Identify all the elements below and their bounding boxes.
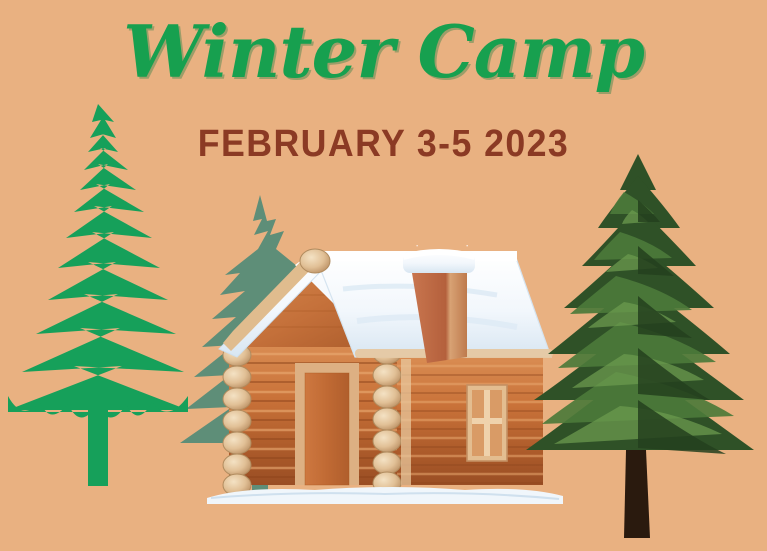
page-title: Winter Camp — [0, 14, 767, 90]
winter-camp-poster: Winter Camp FEBRUARY 3-5 2023 — [0, 0, 767, 551]
cabin-door[interactable] — [295, 363, 359, 485]
log-cabin — [215, 245, 555, 515]
event-date: FEBRUARY 3-5 2023 — [23, 123, 744, 166]
snow-drift — [205, 482, 565, 506]
cabin-window[interactable] — [467, 385, 507, 461]
chimney-smoke — [415, 245, 477, 247]
tree-dark-right — [520, 150, 760, 551]
